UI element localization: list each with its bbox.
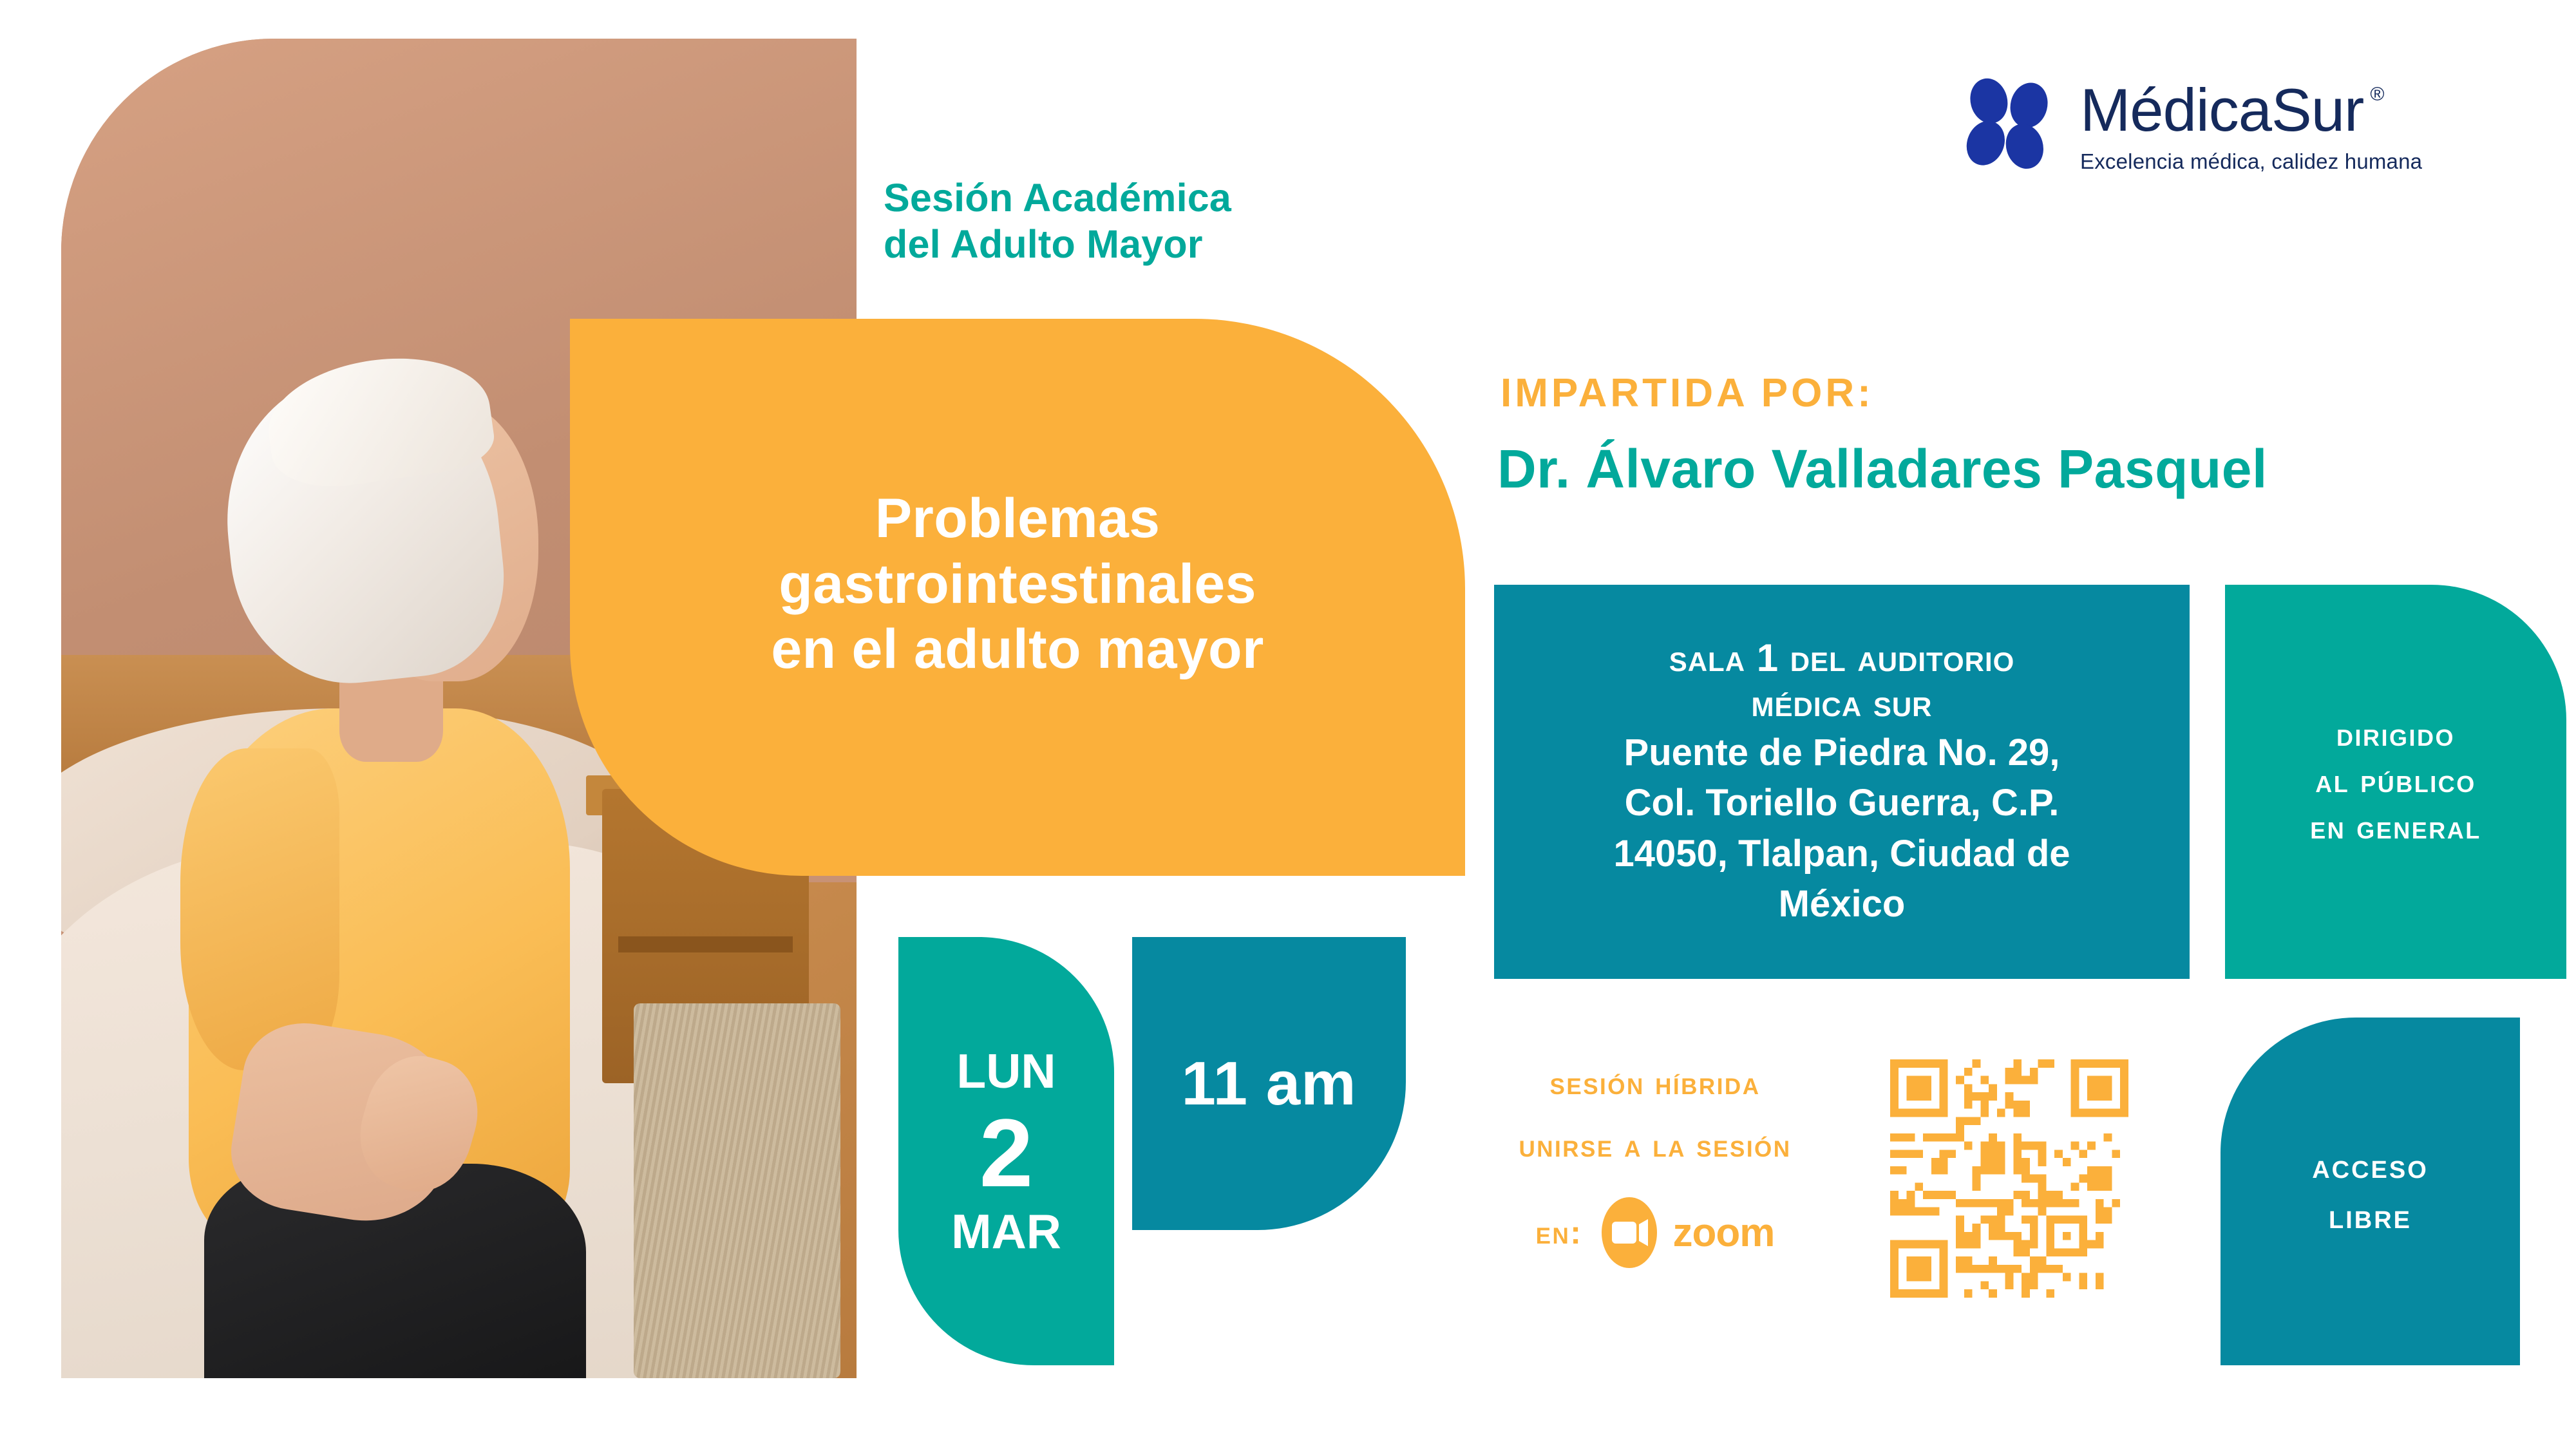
venue-room: Sala 1 del Auditorio	[1669, 636, 2015, 681]
hybrid-line-3: en:	[1536, 1214, 1583, 1251]
session-kicker: Sesión Académica del Adulto Mayor	[884, 175, 1463, 268]
zoom-camera-icon	[1594, 1195, 1665, 1271]
venue-address-line-3: 14050, Tlalpan, Ciudad de	[1613, 831, 2070, 878]
date-day-of-week: LUN	[956, 1047, 1056, 1095]
audience-box: Dirigido al público en general	[2225, 585, 2566, 979]
zoom-row: en: zoom	[1449, 1195, 1861, 1271]
hybrid-line-2: unirse a la sesión	[1449, 1128, 1861, 1164]
time-value: 11 am	[1182, 1053, 1357, 1115]
logo-registered-mark: ®	[2370, 84, 2384, 106]
venue-address-line-1: Puente de Piedra No. 29,	[1624, 730, 2060, 777]
logo-title-row: MédicaSur ®	[2080, 80, 2422, 140]
hybrid-line-1: Sesión híbrida	[1449, 1066, 1861, 1101]
audience-line-1: Dirigido	[2310, 712, 2481, 759]
time-badge: 11 am	[1132, 937, 1406, 1230]
venue-box: Sala 1 del Auditorio Médica Sur Puente d…	[1494, 585, 2190, 979]
venue-building: Médica Sur	[1751, 681, 1932, 726]
session-title-block: Problemas gastrointestinales en el adult…	[570, 319, 1465, 876]
zoom-logo[interactable]: zoom	[1594, 1195, 1774, 1271]
title-line-3: en el adulto mayor	[771, 617, 1264, 682]
audience-text: Dirigido al público en general	[2298, 712, 2492, 851]
audience-line-3: en general	[2310, 805, 2481, 851]
access-text: Acceso libre	[2312, 1141, 2429, 1242]
brand-logo: MédicaSur ® Excelencia médica, calidez h…	[1956, 72, 2422, 182]
date-badge: LUN 2 MAR	[898, 937, 1114, 1365]
photo-rug	[634, 1003, 840, 1378]
logo-title: MédicaSur	[2080, 80, 2363, 140]
photo-woman-sleeve	[180, 748, 339, 1070]
photo-nightstand-drawer-line	[618, 936, 793, 952]
medicasur-pinwheel-logo-icon	[1956, 72, 2065, 182]
zoom-wordmark: zoom	[1672, 1210, 1774, 1256]
kicker-line-1: Sesión Académica	[884, 175, 1463, 222]
title-line-2: gastrointestinales	[771, 552, 1264, 617]
access-line-1: Acceso	[2312, 1141, 2429, 1191]
access-line-2: libre	[2312, 1191, 2429, 1242]
qr-code-icon	[1890, 1059, 2128, 1298]
qr-code[interactable]	[1890, 1059, 2128, 1298]
kicker-line-2: del Adulto Mayor	[884, 222, 1463, 268]
access-box: Acceso libre	[2221, 1018, 2520, 1365]
date-day-number: 2	[980, 1104, 1033, 1201]
hybrid-session-section: Sesión híbrida unirse a la sesión en: zo…	[1449, 1066, 1861, 1271]
speaker-label: IMPARTIDA POR:	[1501, 370, 1874, 416]
audience-line-2: al público	[2310, 759, 2481, 805]
speaker-name: Dr. Álvaro Valladares Pasquel	[1497, 438, 2268, 500]
venue-address-line-2: Col. Toriello Guerra, C.P.	[1625, 780, 2060, 827]
logo-tagline: Excelencia médica, calidez humana	[2080, 149, 2422, 174]
title-line-1: Problemas	[771, 486, 1264, 551]
date-month: MAR	[951, 1207, 1061, 1256]
logo-text: MédicaSur ® Excelencia médica, calidez h…	[2080, 80, 2422, 174]
venue-address-line-4: México	[1779, 881, 1906, 928]
session-title: Problemas gastrointestinales en el adult…	[741, 486, 1293, 708]
